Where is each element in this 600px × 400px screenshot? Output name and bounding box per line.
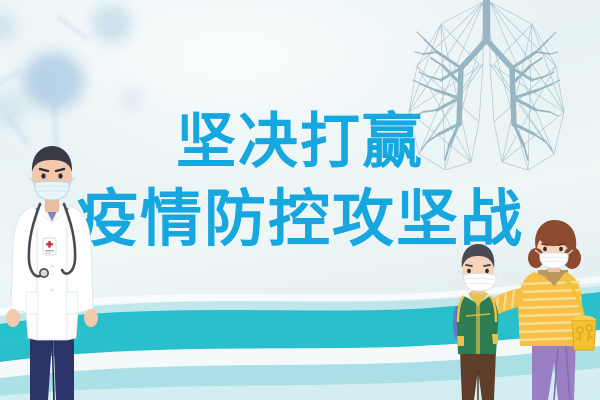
family-illustration bbox=[454, 228, 600, 400]
boy-head bbox=[459, 244, 496, 291]
doctor-eye-left bbox=[41, 173, 45, 178]
boy-illustration bbox=[453, 244, 498, 400]
doctor-coat bbox=[11, 204, 93, 340]
molecule-bond bbox=[6, 116, 29, 145]
mother-sweater bbox=[518, 268, 582, 346]
boy-eye-right bbox=[485, 269, 489, 273]
molecule-bond bbox=[56, 15, 88, 41]
doctor-id-badge bbox=[43, 238, 56, 255]
mother-eye-left bbox=[543, 247, 547, 251]
lungs-wireframe-icon bbox=[379, 0, 594, 194]
boy-eyebrow-right bbox=[484, 265, 490, 266]
mother-head bbox=[528, 220, 581, 269]
molecule-node bbox=[0, 92, 24, 126]
poster-canvas: 坚决打赢 疫情防控攻坚战 bbox=[0, 0, 600, 400]
molecule-bond bbox=[0, 70, 20, 94]
molecule-node bbox=[22, 52, 84, 110]
mother-eyebrow-right bbox=[558, 244, 564, 245]
lungs-polygon-mesh bbox=[409, 2, 564, 170]
boy-jacket bbox=[457, 290, 498, 354]
molecule-node bbox=[120, 88, 142, 110]
boy-eye-left bbox=[467, 269, 471, 273]
doctor-eye-right bbox=[58, 173, 62, 178]
molecule-node bbox=[92, 5, 132, 43]
boy-eyebrow-left bbox=[466, 265, 472, 266]
molecule-node bbox=[0, 12, 16, 42]
bronchial-tree bbox=[413, 0, 560, 160]
stethoscope-chestpiece bbox=[40, 269, 48, 277]
doctor-illustration bbox=[4, 142, 100, 400]
doctor-head bbox=[30, 146, 74, 200]
boy-pants bbox=[460, 350, 496, 400]
mother-eyebrow-left bbox=[542, 244, 548, 245]
mother-eye-right bbox=[559, 247, 563, 251]
